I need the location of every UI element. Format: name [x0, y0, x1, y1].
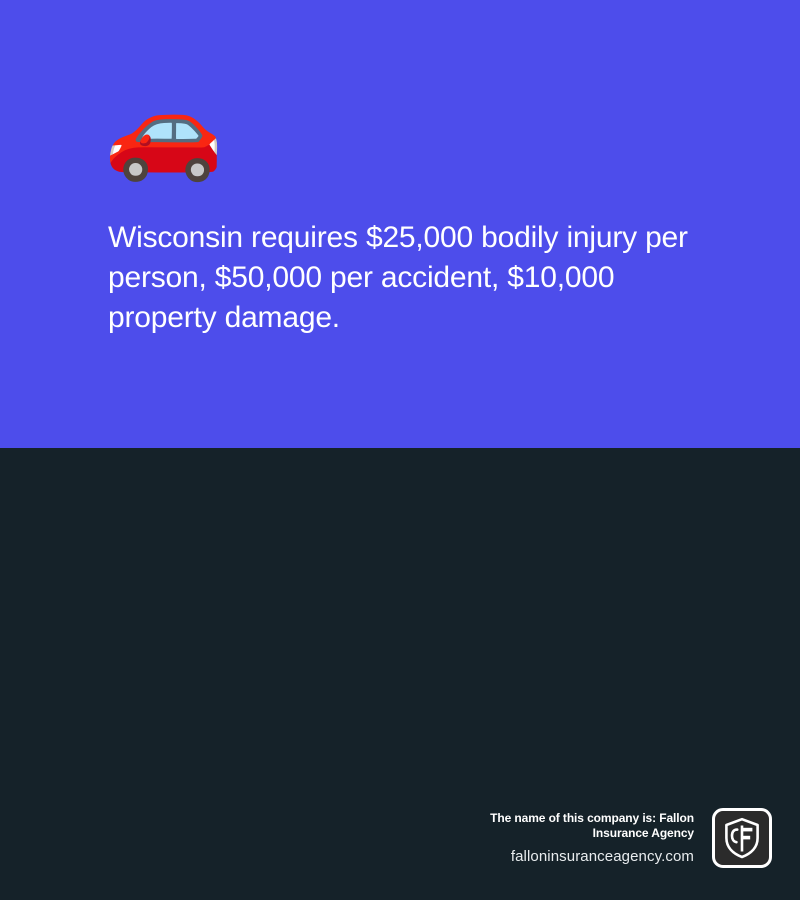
shield-icon	[723, 817, 761, 859]
website-link[interactable]: falloninsuranceagency.com	[511, 848, 694, 865]
car-icon: 🚗	[104, 82, 224, 178]
company-logo-tile[interactable]	[712, 808, 772, 868]
fact-panel-top: 🚗 Wisconsin requires $25,000 bodily inju…	[0, 0, 800, 448]
fact-text-top: Wisconsin requires $25,000 bodily injury…	[108, 218, 708, 338]
footer-branding: The name of this company is: Fallon Insu…	[464, 808, 772, 868]
company-name-label: The name of this company is: Fallon Insu…	[464, 811, 694, 842]
footer-text-block: The name of this company is: Fallon Insu…	[464, 811, 694, 866]
insurance-facts-card: 🚗 Wisconsin requires $25,000 bodily inju…	[0, 0, 800, 900]
